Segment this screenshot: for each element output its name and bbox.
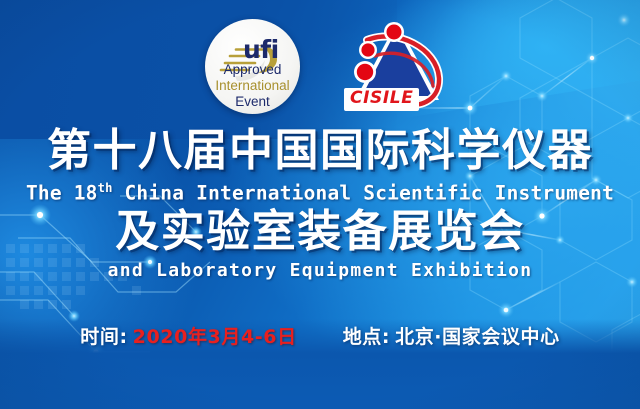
ufi-logo: ufi Approved International Event (205, 19, 300, 114)
ufi-wordmark: ufi (243, 37, 279, 62)
cisile-logo: CISILE (339, 12, 451, 120)
ufi-line-international: International (205, 79, 300, 93)
title-english-line-1: The 18th China International Scientific … (0, 182, 640, 203)
title-english-line-2: and Laboratory Equipment Exhibition (0, 262, 640, 280)
event-location-label: 地点: (343, 326, 390, 348)
ufi-line-event: Event (205, 95, 300, 109)
cisile-wordmark: CISILE (344, 88, 419, 111)
event-date: 时间:2020年3月4-6日 (80, 322, 296, 349)
event-date-label: 时间: (80, 326, 127, 348)
title-chinese-line-2: 及实验室装备展览会 (0, 210, 640, 254)
ufi-line-approved: Approved (205, 63, 300, 77)
event-date-value: 2020年3月4-6日 (133, 326, 297, 348)
event-location-value: 北京·国家会议中心 (395, 326, 560, 348)
title-english-line-1-post: China International Scientific Instrumen… (113, 182, 614, 205)
title-chinese-line-1: 第十八届中国国际科学仪器 (0, 129, 640, 173)
event-location: 地点:北京·国家会议中心 (343, 322, 560, 349)
title-english-line-1-pre: The 18 (26, 182, 98, 205)
logo-row: ufi Approved International Event CISILE (0, 0, 640, 128)
title-block: 第十八届中国国际科学仪器 The 18th China Internationa… (0, 129, 640, 280)
event-details-bar: 时间:2020年3月4-6日 地点:北京·国家会议中心 (0, 322, 640, 349)
exhibition-banner: ufi Approved International Event CISILE (0, 0, 640, 409)
title-english-ordinal-suffix: th (98, 181, 113, 195)
